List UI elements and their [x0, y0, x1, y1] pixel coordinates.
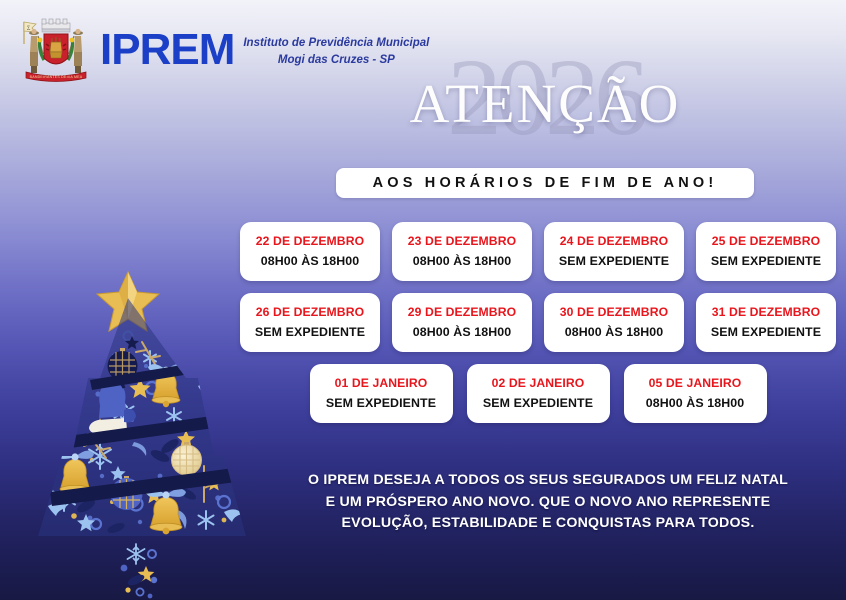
card-date: 25 DE DEZEMBRO — [712, 234, 820, 250]
svg-text:BANDEIRANTES DEIXA MEA: BANDEIRANTES DEIXA MEA — [30, 75, 83, 79]
message-line-3: EVOLUÇÃO, ESTABILIDADE E CONQUISTAS PARA… — [268, 513, 828, 535]
card-hours: SEM EXPEDIENTE — [559, 253, 669, 269]
card-date: 01 DE JANEIRO — [335, 376, 428, 392]
card-date: 30 DE DEZEMBRO — [560, 305, 668, 321]
schedule-row-3: 01 DE JANEIRO SEM EXPEDIENTE 02 DE JANEI… — [240, 364, 836, 423]
brand-block: IPREM Instituto de Previdência Municipal… — [100, 28, 429, 72]
schedule-card: 23 DE DEZEMBRO 08H00 ÀS 18H00 — [392, 222, 532, 281]
brand-subtitle-line-1: Instituto de Previdência Municipal — [243, 35, 429, 52]
schedule-card: 26 DE DEZEMBRO SEM EXPEDIENTE — [240, 293, 380, 352]
card-hours: SEM EXPEDIENTE — [483, 395, 593, 411]
card-date: 02 DE JANEIRO — [492, 376, 585, 392]
card-date: 24 DE DEZEMBRO — [560, 234, 668, 250]
schedule-card: 29 DE DEZEMBRO 08H00 ÀS 18H00 — [392, 293, 532, 352]
coat-of-arms-icon: ∑ — [18, 14, 94, 86]
card-date: 29 DE DEZEMBRO — [408, 305, 516, 321]
card-hours: 08H00 ÀS 18H00 — [413, 253, 512, 269]
brand-subtitle: Instituto de Previdência Municipal Mogi … — [243, 31, 429, 68]
brand-subtitle-line-2: Mogi das Cruzes - SP — [243, 52, 429, 69]
svg-text:∑: ∑ — [27, 25, 31, 31]
schedule-card: 24 DE DEZEMBRO SEM EXPEDIENTE — [544, 222, 684, 281]
message-line-2: E UM PRÓSPERO ANO NOVO. QUE O NOVO ANO R… — [268, 492, 828, 514]
card-hours: 08H00 ÀS 18H00 — [261, 253, 360, 269]
card-hours: 08H00 ÀS 18H00 — [646, 395, 745, 411]
card-hours: SEM EXPEDIENTE — [711, 324, 821, 340]
schedule-card: 05 DE JANEIRO 08H00 ÀS 18H00 — [624, 364, 767, 423]
card-date: 23 DE DEZEMBRO — [408, 234, 516, 250]
card-hours: SEM EXPEDIENTE — [711, 253, 821, 269]
header: ∑ — [18, 14, 429, 86]
card-date: 26 DE DEZEMBRO — [256, 305, 364, 321]
card-hours: 08H00 ÀS 18H00 — [565, 324, 664, 340]
subtitle-text: AOS HORÁRIOS DE FIM DE ANO! — [373, 175, 718, 191]
schedule-card: 25 DE DEZEMBRO SEM EXPEDIENTE — [696, 222, 836, 281]
schedule-card-grid: 22 DE DEZEMBRO 08H00 ÀS 18H00 23 DE DEZE… — [240, 222, 836, 435]
schedule-card: 02 DE JANEIRO SEM EXPEDIENTE — [467, 364, 610, 423]
holiday-hours-poster: ∑ — [0, 0, 846, 600]
card-hours: SEM EXPEDIENTE — [255, 324, 365, 340]
schedule-card: 31 DE DEZEMBRO SEM EXPEDIENTE — [696, 293, 836, 352]
schedule-card: 22 DE DEZEMBRO 08H00 ÀS 18H00 — [240, 222, 380, 281]
schedule-card: 30 DE DEZEMBRO 08H00 ÀS 18H00 — [544, 293, 684, 352]
message-line-1: O IPREM DESEJA A TODOS OS SEUS SEGURADOS… — [268, 470, 828, 492]
schedule-row-2: 26 DE DEZEMBRO SEM EXPEDIENTE 29 DE DEZE… — [240, 293, 836, 352]
card-hours: SEM EXPEDIENTE — [326, 395, 436, 411]
card-date: 22 DE DEZEMBRO — [256, 234, 364, 250]
card-hours: 08H00 ÀS 18H00 — [413, 324, 512, 340]
schedule-row-1: 22 DE DEZEMBRO 08H00 ÀS 18H00 23 DE DEZE… — [240, 222, 836, 281]
schedule-card: 01 DE JANEIRO SEM EXPEDIENTE — [310, 364, 453, 423]
closing-message: O IPREM DESEJA A TODOS OS SEUS SEGURADOS… — [268, 470, 828, 535]
card-date: 31 DE DEZEMBRO — [712, 305, 820, 321]
subtitle-banner: AOS HORÁRIOS DE FIM DE ANO! — [336, 168, 754, 198]
iprem-wordmark: IPREM — [100, 28, 234, 72]
card-date: 05 DE JANEIRO — [649, 376, 742, 392]
